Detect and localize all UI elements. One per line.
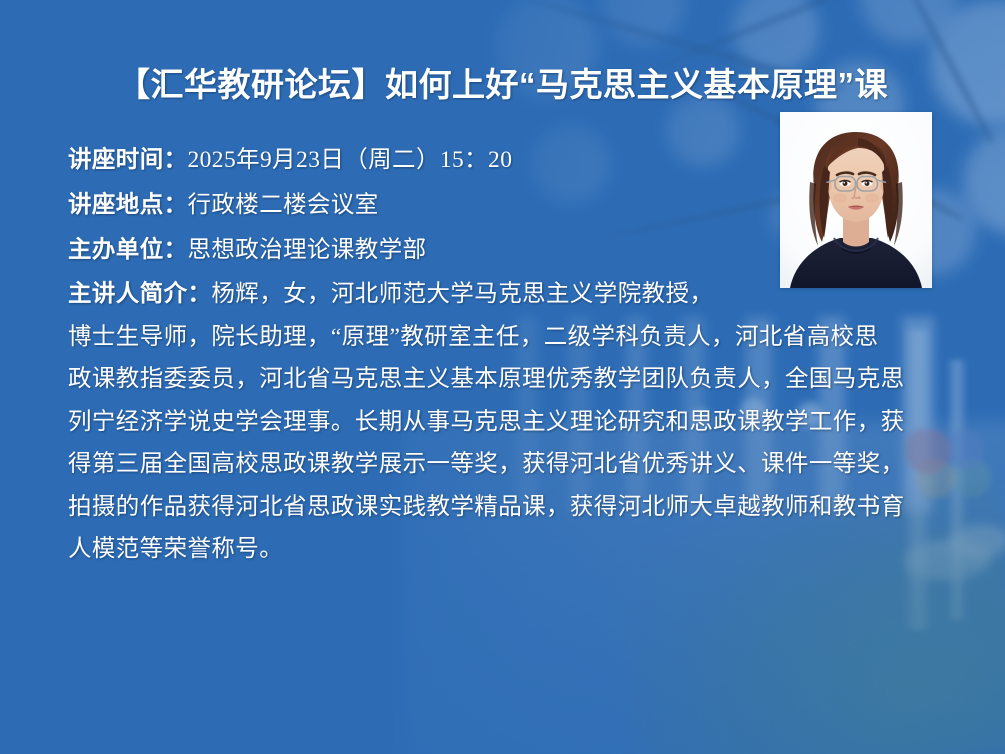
speaker-bio-line: 得第三届全国高校思政课教学展示一等奖，获得河北省优秀讲义、课件一等奖，	[68, 443, 968, 486]
speaker-bio-line: 人模范等荣誉称号。	[68, 528, 968, 571]
presentation-slide: 【汇华教研论坛】如何上好“马克思主义基本原理”课 讲座时间：2025年9月23日…	[0, 0, 1005, 754]
lecture-time-label: 讲座时间：	[68, 147, 188, 173]
lecture-time-value: 2025年9月23日（周二）15：20	[188, 147, 513, 173]
speaker-portrait-photo	[780, 112, 932, 288]
speaker-bio-line: 博士生导师，院长助理，“原理”教研室主任，二级学科负责人，河北省高校思	[68, 316, 968, 359]
speaker-bio-label: 主讲人简介：	[68, 281, 211, 307]
portrait-illustration	[780, 112, 932, 288]
speaker-bio-line: 拍摄的作品获得河北省思政课实践教学精品课，获得河北师大卓越教师和教书育	[68, 486, 968, 529]
slide-title: 【汇华教研论坛】如何上好“马克思主义基本原理”课	[0, 58, 1005, 106]
lecture-organizer-value: 思想政治理论课教学部	[188, 237, 427, 263]
speaker-bio-text: 杨辉，女，河北师范大学马克思主义学院教授，	[211, 281, 713, 307]
lecture-location-label: 讲座地点：	[68, 192, 188, 218]
speaker-bio-line: 列宁经济学说史学会理事。长期从事马克思主义理论研究和思政课教学工作，获	[68, 401, 968, 444]
lecture-location-value: 行政楼二楼会议室	[188, 192, 379, 218]
lecture-organizer-label: 主办单位：	[68, 237, 188, 263]
speaker-bio-line: 政课教指委委员，河北省马克思主义基本原理优秀教学团队负责人，全国马克思	[68, 358, 968, 401]
